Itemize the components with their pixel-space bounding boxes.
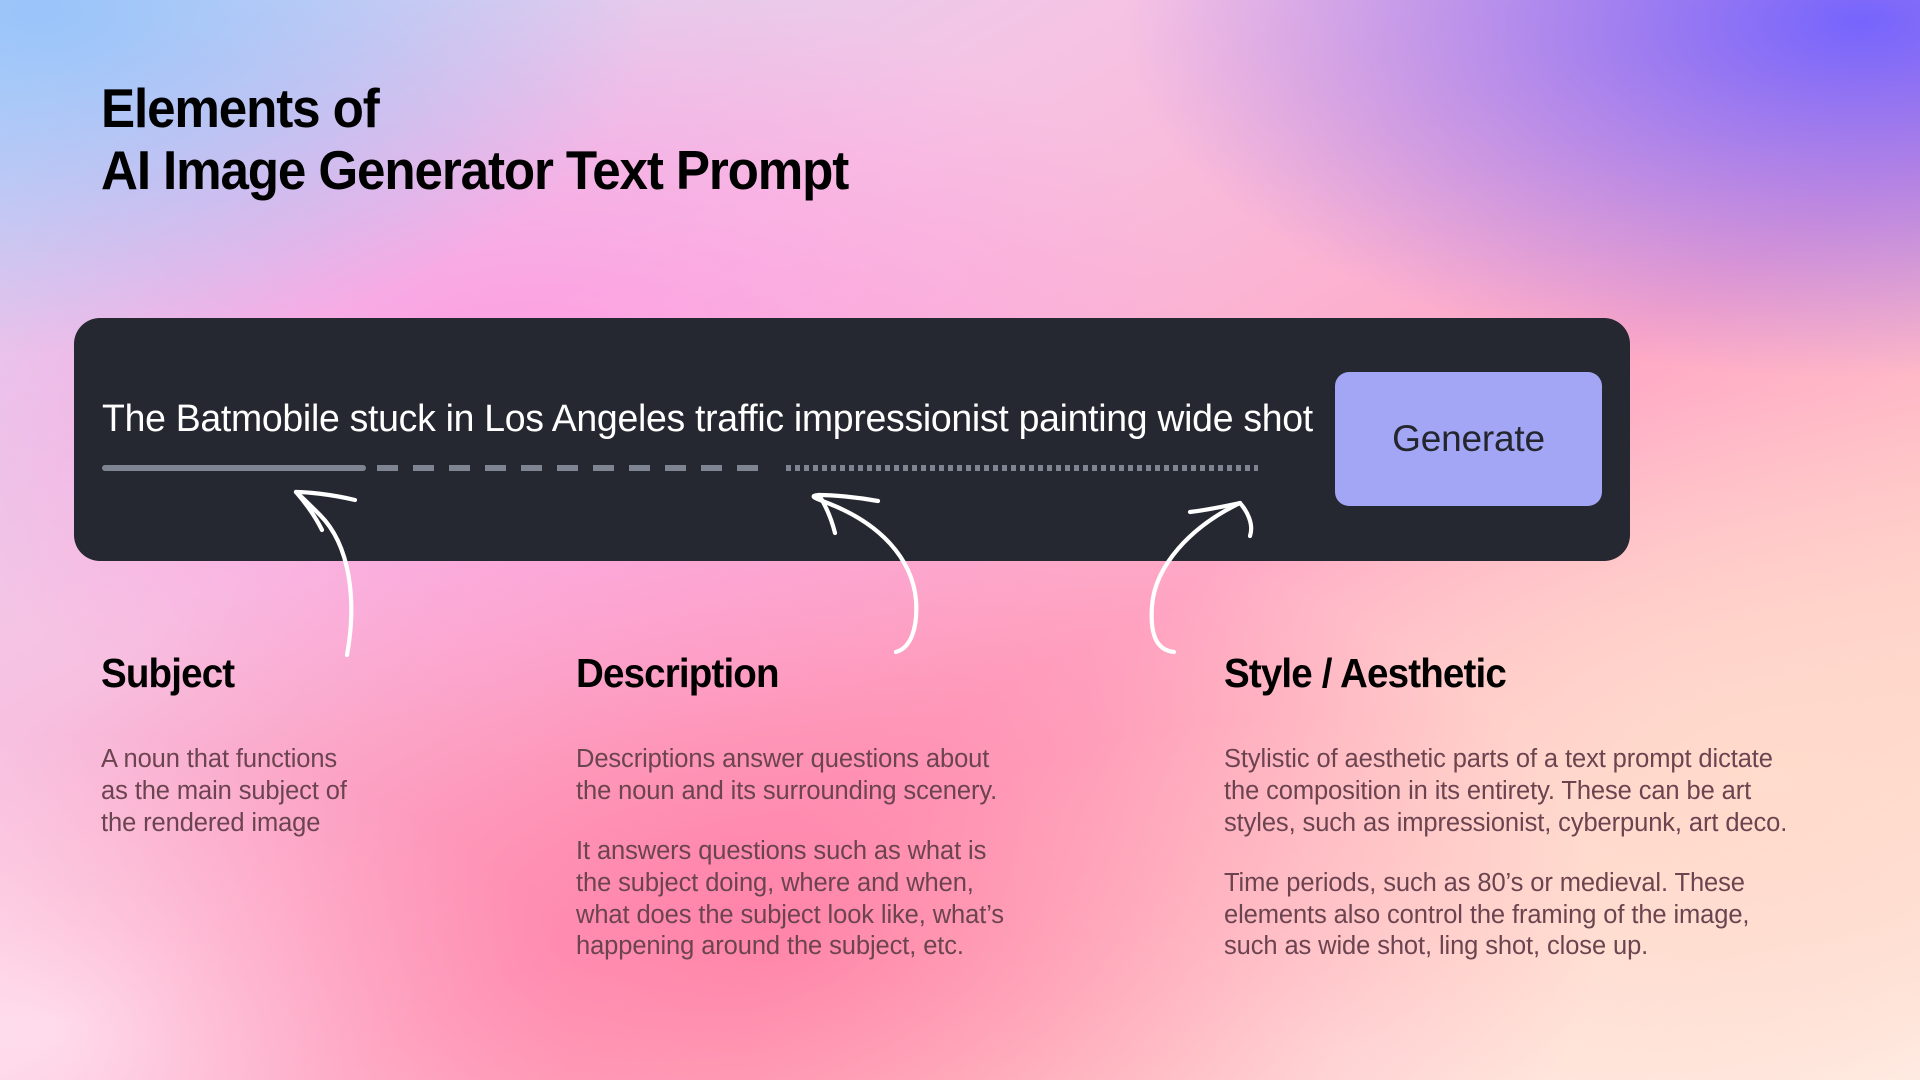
column-description: Description Descriptions answer question…: [576, 650, 1076, 963]
column-style: Style / Aesthetic Stylistic of aesthetic…: [1224, 650, 1864, 963]
column-subject: Subject A noun that functions as the mai…: [101, 650, 471, 840]
prompt-bar: The Batmobile stuck in Los Angeles traff…: [74, 318, 1630, 561]
column-title-description: Description: [576, 650, 1046, 697]
column-title-style: Style / Aesthetic: [1224, 650, 1826, 697]
infographic-page: Elements of AI Image Generator Text Prom…: [0, 0, 1920, 1080]
underline-segment-description: [377, 465, 773, 471]
underline-segment-subject: [102, 465, 366, 471]
column-body-style-2: Time periods, such as 80’s or medieval. …: [1224, 868, 1864, 964]
column-body-style-1: Stylistic of aesthetic parts of a text p…: [1224, 744, 1864, 840]
column-title-subject: Subject: [101, 650, 449, 697]
prompt-input-text[interactable]: The Batmobile stuck in Los Angeles traff…: [102, 398, 1313, 441]
column-body-subject-1: A noun that functions as the main subjec…: [101, 744, 471, 840]
underline-segment-style: [786, 465, 1258, 471]
column-body-description-2: It answers questions such as what is the…: [576, 836, 1076, 964]
page-title: Elements of AI Image Generator Text Prom…: [101, 78, 848, 201]
generate-button[interactable]: Generate: [1335, 372, 1602, 506]
column-body-description-1: Descriptions answer questions about the …: [576, 744, 1076, 808]
